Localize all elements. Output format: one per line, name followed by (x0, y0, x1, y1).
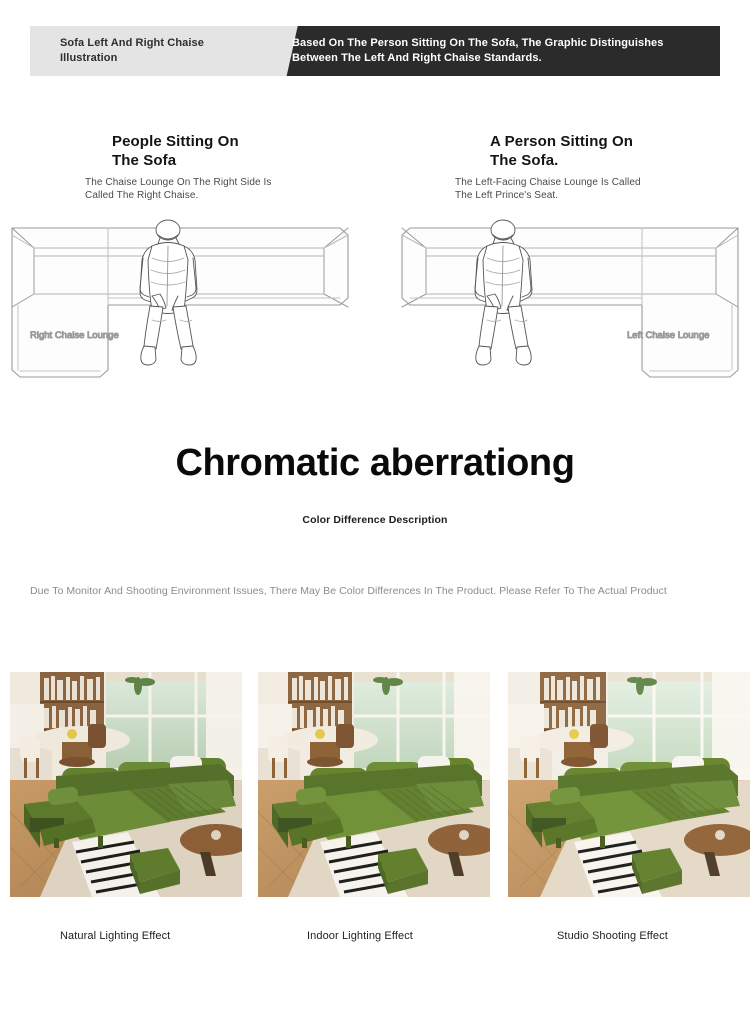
product-photo-studio (508, 672, 750, 897)
sofa-illustration-right: Left Chaise Lounge (375, 210, 750, 395)
banner-title: Sofa Left And Right Chaise Illustration (60, 36, 270, 66)
product-photo-indoor (258, 672, 490, 897)
diagram-title: People Sitting On The Sofa (112, 132, 375, 170)
product-photo-natural (10, 672, 242, 897)
diagram-subtitle: The Chaise Lounge On The Right Side Is C… (85, 176, 375, 202)
header-banner: Sofa Left And Right Chaise Illustration … (30, 26, 720, 76)
section-title: Chromatic aberrationg (0, 440, 750, 486)
diagram-left-chaise: A Person Sitting On The Sofa. The Left-F… (375, 132, 750, 202)
chaise-label-right: Left Chaise Lounge (627, 330, 709, 341)
product-detail-page: Sofa Left And Right Chaise Illustration … (0, 0, 750, 1010)
section-subtitle: Color Difference Description (0, 514, 750, 526)
banner-description: Based On The Person Sitting On The Sofa,… (292, 36, 712, 66)
photo-caption-studio: Studio Shooting Effect (557, 930, 668, 942)
sofa-illustration-left: Right Chaise Lounge (0, 210, 375, 395)
color-disclaimer: Due To Monitor And Shooting Environment … (30, 585, 750, 597)
diagram-title: A Person Sitting On The Sofa. (490, 132, 750, 170)
photo-caption-indoor: Indoor Lighting Effect (307, 930, 413, 942)
photo-caption-natural: Natural Lighting Effect (60, 930, 170, 942)
diagram-right-chaise: People Sitting On The Sofa The Chaise Lo… (0, 132, 375, 202)
diagram-subtitle: The Left-Facing Chaise Lounge Is Called … (455, 176, 750, 202)
chaise-label-left: Right Chaise Lounge (30, 330, 119, 341)
